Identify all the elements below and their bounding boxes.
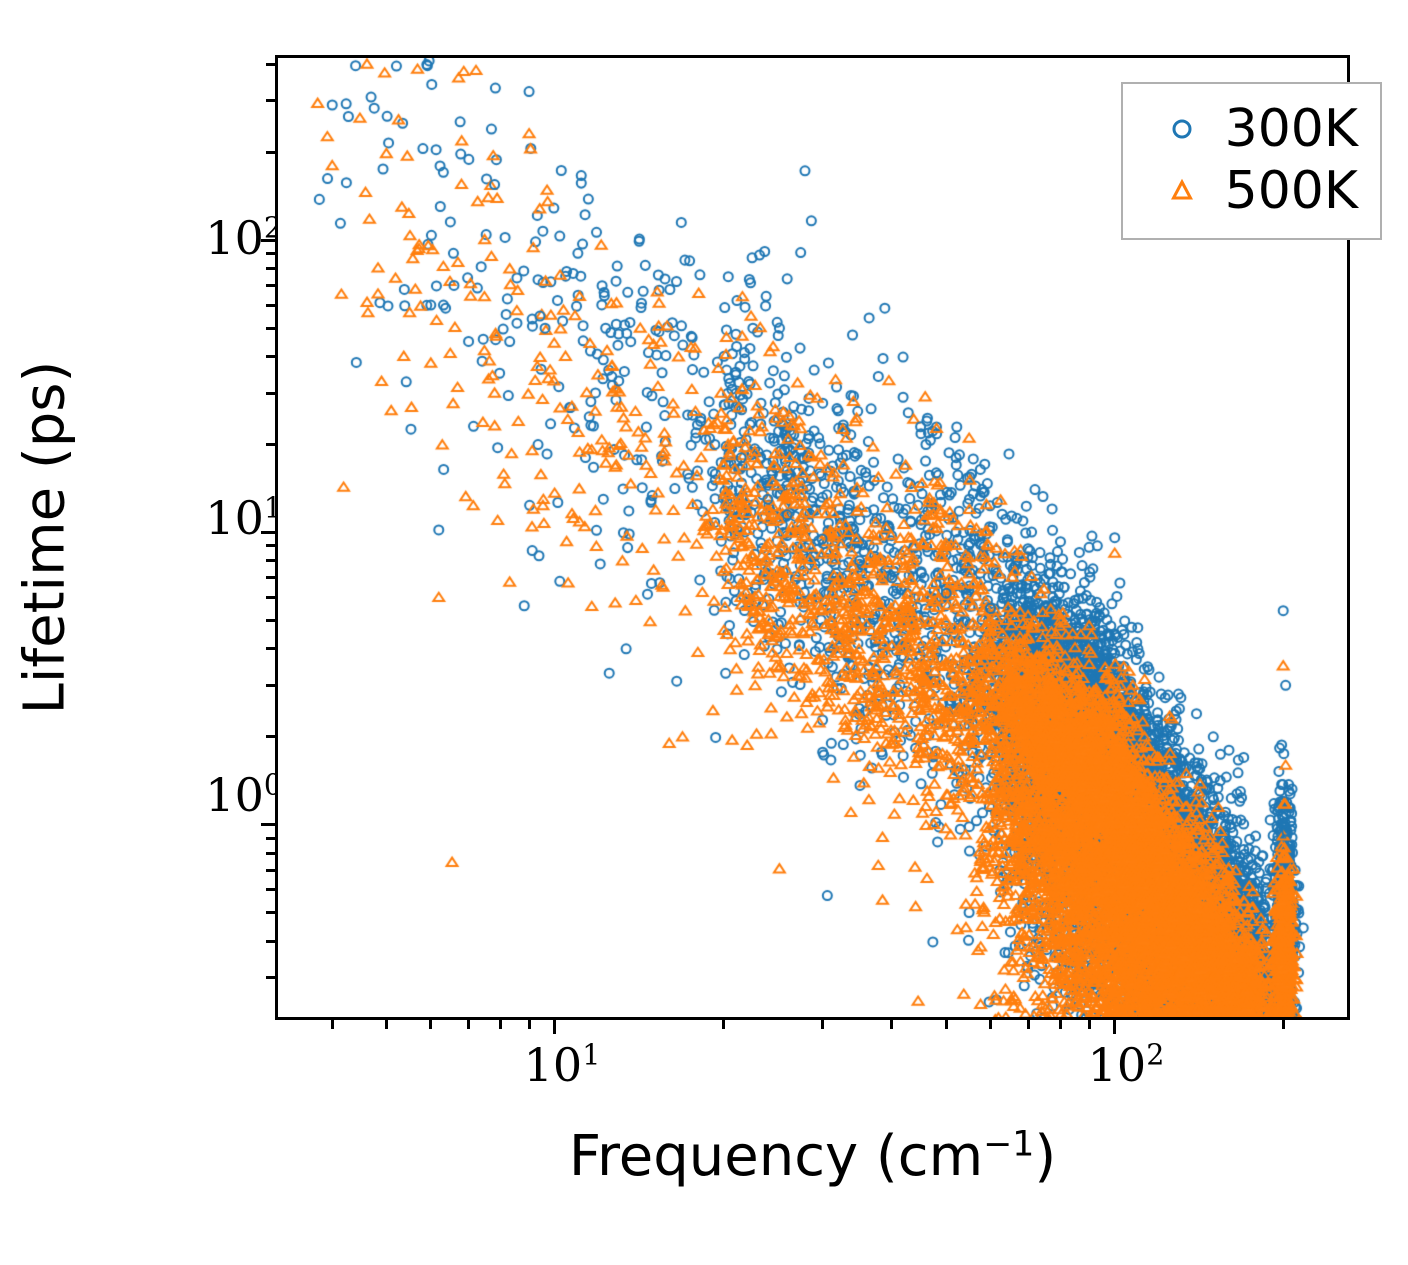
legend-entry-500k[interactable]: 500K <box>1145 160 1358 222</box>
y-axis-title: Lifetime (ps) <box>0 55 90 1020</box>
y-tick-label-1: 100 <box>205 772 282 818</box>
legend-entry-300k[interactable]: 300K <box>1145 98 1358 160</box>
legend-label-500k: 500K <box>1219 165 1358 217</box>
y-axis-title-text: Lifetime (ps) <box>13 361 78 715</box>
circle-open-marker <box>1145 114 1219 144</box>
x-axis-title-text: Frequency (cm−1) <box>569 1124 1056 1189</box>
figure-root: Lifetime (ps) 102 101 100 101 102 300K <box>0 0 1408 1265</box>
x-axis-title: Frequency (cm−1) <box>275 1124 1350 1189</box>
x-tick-label-100: 102 <box>1088 1042 1165 1088</box>
x-tick-label-10: 101 <box>524 1042 601 1088</box>
triangle-open-marker <box>1145 176 1219 206</box>
legend-box[interactable]: 300K 500K <box>1121 82 1382 240</box>
legend-label-300k: 300K <box>1219 103 1358 155</box>
y-tick-label-10: 101 <box>205 495 282 541</box>
